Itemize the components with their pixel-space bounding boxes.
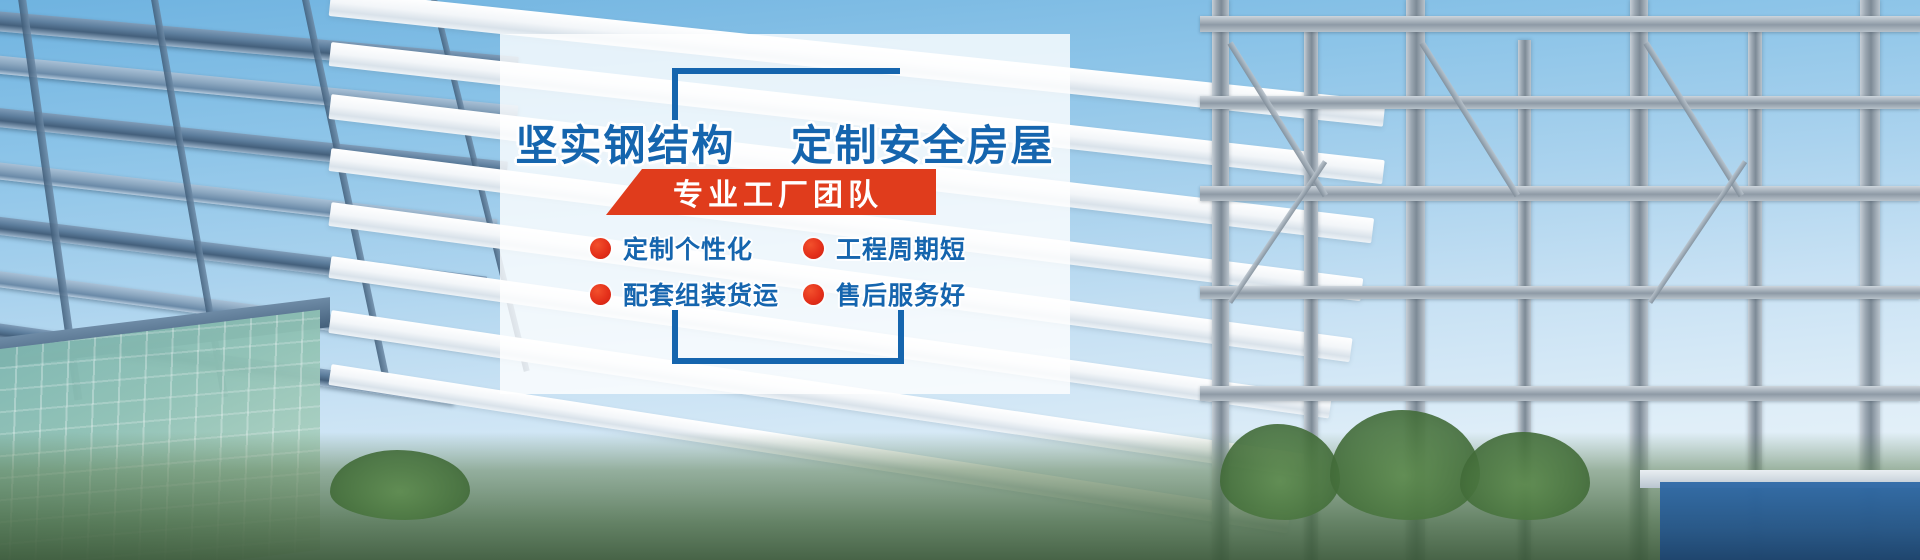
feature-list: 定制个性化 工程周期短 配套组装货运 售后服务好: [590, 226, 1010, 316]
bracket-line-horizontal: [672, 68, 900, 74]
red-dot-icon: [803, 284, 824, 305]
headline-part-1: 坚实钢结构: [515, 121, 735, 170]
ribbon-label: 专业工厂团队: [606, 169, 936, 215]
bracket-line-vertical-left: [672, 310, 678, 364]
feature-item: 定制个性化: [590, 226, 795, 270]
feature-label: 定制个性化: [623, 230, 753, 266]
bracket-line-vertical-right: [898, 310, 904, 364]
red-dot-icon: [803, 238, 824, 259]
red-dot-icon: [590, 238, 611, 259]
feature-label: 配套组装货运: [623, 276, 779, 312]
headline: 坚实钢结构 定制安全房屋: [500, 112, 1070, 173]
feature-item: 配套组装货运: [590, 272, 795, 316]
headline-part-2: 定制安全房屋: [791, 121, 1055, 170]
feature-label: 售后服务好: [836, 276, 966, 312]
feature-label: 工程周期短: [836, 230, 966, 266]
feature-item: 售后服务好: [803, 272, 1008, 316]
feature-item: 工程周期短: [803, 226, 1008, 270]
corner-bracket-bottom: [672, 310, 904, 364]
blue-shed: [1660, 482, 1920, 560]
bracket-line-horizontal: [672, 358, 904, 364]
ground-band: [0, 432, 1920, 560]
hero-banner: 坚实钢结构 定制安全房屋 专业工厂团队 定制个性化 工程周期短 配套组装货运 售…: [0, 0, 1920, 560]
red-dot-icon: [590, 284, 611, 305]
